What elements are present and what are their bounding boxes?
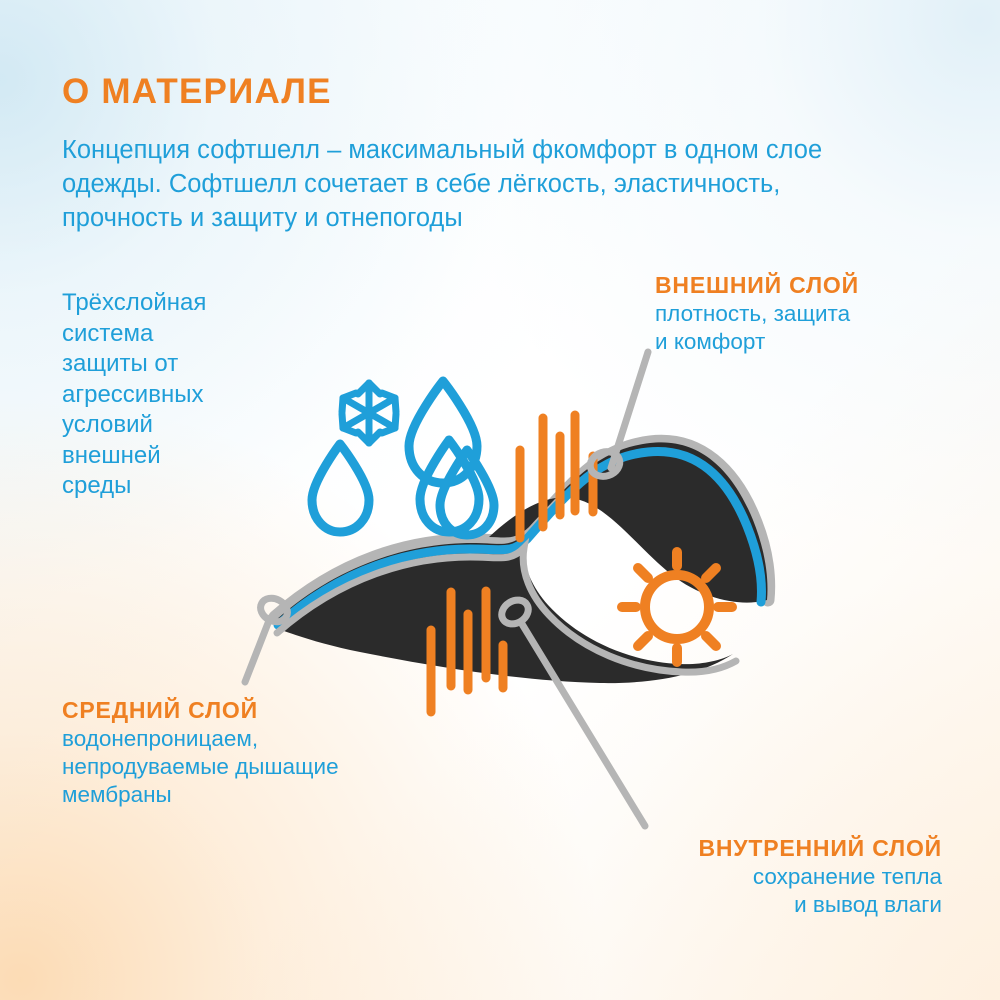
leader-middle-layer: [245, 594, 292, 682]
page-subtitle: Концепция софтшелл – максимальный фкомфо…: [62, 133, 952, 235]
sun-icon: [622, 552, 732, 662]
infographic-poster: О МАТЕРИАЛЕ Концепция софтшелл – максима…: [0, 0, 1000, 1000]
subtitle-line: одежды. Софтшелл сочетает в себе лёгкост…: [62, 167, 952, 201]
left-note-line: система: [62, 319, 292, 350]
callout-middle-title: СРЕДНИЙ СЛОЙ: [62, 695, 339, 725]
callout-outer-body: плотность, защита и комфорт: [655, 300, 859, 356]
callout-inner-layer: ВНУТРЕННИЙ СЛОЙ сохранение тепла и вывод…: [698, 833, 942, 919]
callout-middle-body: водонепроницаем, непродуваемые дышащие м…: [62, 725, 339, 809]
left-note-line: агрессивных: [62, 380, 292, 411]
left-note-line: защиты от: [62, 349, 292, 380]
subtitle-line: прочность и защиту и отнепогоды: [62, 201, 952, 235]
left-note: Трёхслойная система защиты от агрессивны…: [62, 288, 292, 502]
callout-outer-line: и комфорт: [655, 328, 859, 356]
left-note-line: внешней: [62, 441, 292, 472]
callout-outer-title: ВНЕШНИЙ СЛОЙ: [655, 270, 859, 300]
snowflake-icon: [342, 383, 396, 443]
left-note-line: среды: [62, 471, 292, 502]
callout-outer-line: плотность, защита: [655, 300, 859, 328]
callout-inner-title: ВНУТРЕННИЙ СЛОЙ: [698, 833, 942, 863]
callout-middle-line: мембраны: [62, 781, 339, 809]
left-note-line: Трёхслойная: [62, 288, 292, 319]
left-note-line: условий: [62, 410, 292, 441]
callout-inner-body: сохранение тепла и вывод влаги: [698, 863, 942, 919]
callout-middle-line: водонепроницаем,: [62, 725, 339, 753]
callout-inner-line: сохранение тепла: [698, 863, 942, 891]
subtitle-line: Концепция софтшелл – максимальный фкомфо…: [62, 133, 952, 167]
callout-outer-layer: ВНЕШНИЙ СЛОЙ плотность, защита и комфорт: [655, 270, 859, 356]
callout-middle-layer: СРЕДНИЙ СЛОЙ водонепроницаем, непродувае…: [62, 695, 339, 809]
callout-inner-line: и вывод влаги: [698, 891, 942, 919]
callout-middle-line: непродуваемые дышащие: [62, 753, 339, 781]
page-title: О МАТЕРИАЛЕ: [62, 72, 332, 112]
water-drop-icon: [312, 444, 369, 532]
